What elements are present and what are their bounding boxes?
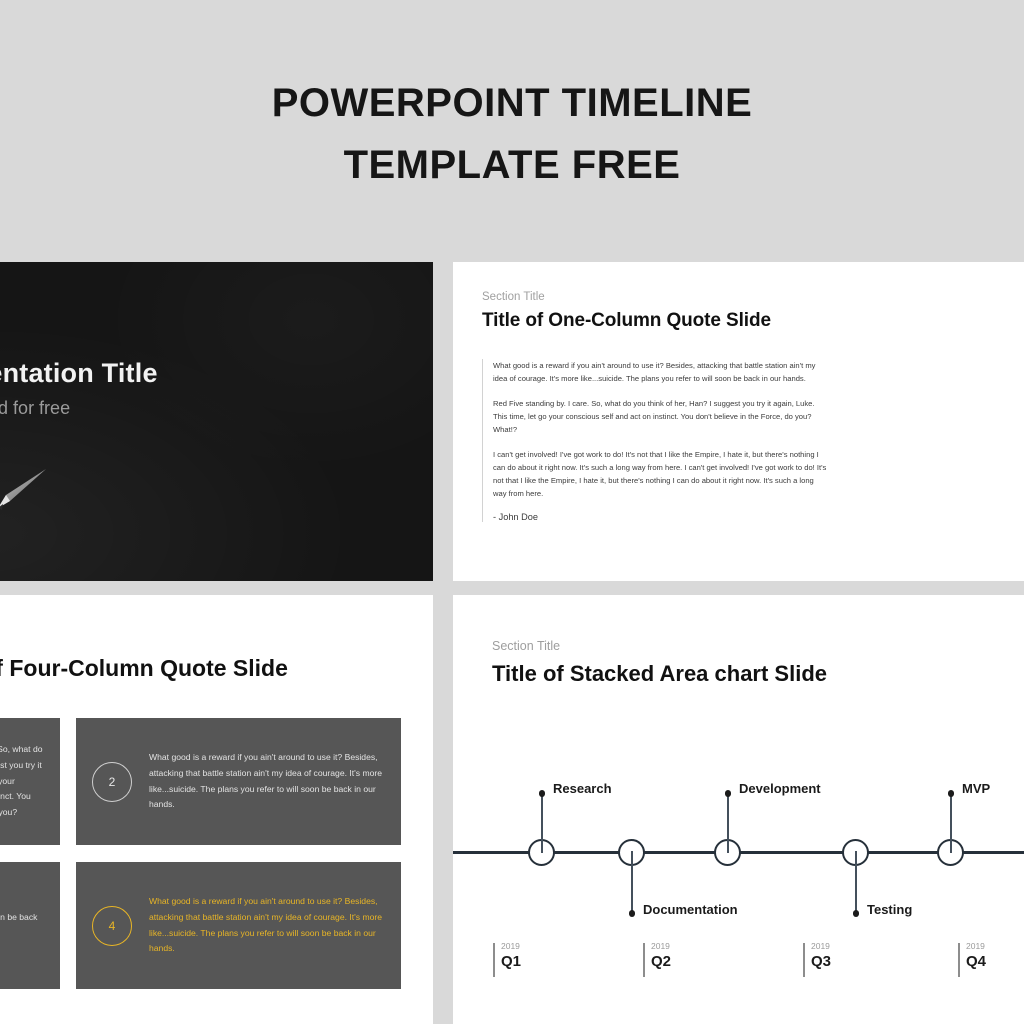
card-grid: Red Five standing by. I care. So, what d… xyxy=(0,718,401,989)
slide-thumbnail-timeline[interactable]: Section Title Title of Stacked Area char… xyxy=(453,595,1024,1024)
card-number-badge: 2 xyxy=(92,762,132,802)
quarter-year-label: 2019 xyxy=(501,941,520,951)
quote-card-1[interactable]: Red Five standing by. I care. So, what d… xyxy=(0,718,60,845)
timeline-chart: ResearchDocumentationDevelopmentTestingM… xyxy=(453,595,1024,1024)
quarter-label: Q4 xyxy=(966,953,986,970)
quarter-year-label: 2019 xyxy=(811,941,830,951)
quote-paragraph: What good is a reward if you ain't aroun… xyxy=(493,359,828,385)
card-number-badge: 4 xyxy=(92,906,132,946)
milestone-label: Documentation xyxy=(643,902,738,917)
quarter-year-label: 2019 xyxy=(966,941,985,951)
milestone-label: Testing xyxy=(867,902,912,917)
card-text: What good is a reward if you ain't aroun… xyxy=(149,750,385,814)
page-title-line-2: TEMPLATE FREE xyxy=(344,134,681,196)
milestone-label: Development xyxy=(739,781,821,796)
quarter-label: Q2 xyxy=(651,953,671,970)
slide-gallery-page: POWERPOINT TIMELINE TEMPLATE FREE Presen… xyxy=(0,0,1024,1024)
quote-author: - John Doe xyxy=(493,512,828,522)
milestone-connector xyxy=(631,851,633,913)
quarter-label: Q3 xyxy=(811,953,831,970)
milestone-dot-icon xyxy=(725,790,732,797)
milestone-connector xyxy=(727,793,729,853)
quarter-label: Q1 xyxy=(501,953,521,970)
slide-thumbnail-quote[interactable]: Section Title Title of One-Column Quote … xyxy=(453,262,1024,581)
milestone-connector xyxy=(950,793,952,853)
slide-thumbnail-title[interactable]: Presentation Title Download for free xyxy=(0,262,433,581)
pen-icon xyxy=(0,467,50,513)
quarter-tick xyxy=(643,943,645,977)
quarter-tick xyxy=(803,943,805,977)
quarter-tick xyxy=(493,943,495,977)
quote-card-4[interactable]: 4 What good is a reward if you ain't aro… xyxy=(76,862,401,989)
quote-body: What good is a reward if you ain't aroun… xyxy=(482,359,828,522)
presentation-title: Presentation Title xyxy=(0,358,158,389)
milestone-connector xyxy=(855,851,857,913)
quote-paragraph: I can't get involved! I've got work to d… xyxy=(493,448,828,500)
milestone-label: MVP xyxy=(962,781,990,796)
page-header: POWERPOINT TIMELINE TEMPLATE FREE xyxy=(0,0,1024,262)
milestone-dot-icon xyxy=(948,790,955,797)
slide-title: Title of Four-Column Quote Slide xyxy=(0,655,288,682)
card-text: Red Five standing by. I care. So, what d… xyxy=(0,742,44,821)
quote-card-3[interactable]: The plans you refer to will soon be back… xyxy=(0,862,60,989)
presentation-subtitle: Download for free xyxy=(0,398,70,419)
quarter-year-label: 2019 xyxy=(651,941,670,951)
quarter-tick xyxy=(958,943,960,977)
quote-paragraph: Red Five standing by. I care. So, what d… xyxy=(493,397,828,436)
page-title-line-1: POWERPOINT TIMELINE xyxy=(272,72,753,134)
quote-card-2[interactable]: 2 What good is a reward if you ain't aro… xyxy=(76,718,401,845)
slide-title: Title of One-Column Quote Slide xyxy=(482,310,771,332)
milestone-label: Research xyxy=(553,781,612,796)
card-text: What good is a reward if you ain't aroun… xyxy=(149,894,385,958)
milestone-dot-icon xyxy=(629,910,636,917)
slide-thumbnail-cards[interactable]: Title of Four-Column Quote Slide Red Fiv… xyxy=(0,595,433,1024)
milestone-dot-icon xyxy=(539,790,546,797)
card-text: The plans you refer to will soon be back… xyxy=(0,910,44,942)
milestone-dot-icon xyxy=(853,910,860,917)
dark-slide-background xyxy=(0,262,433,581)
section-label: Section Title xyxy=(482,291,545,303)
milestone-connector xyxy=(541,793,543,853)
